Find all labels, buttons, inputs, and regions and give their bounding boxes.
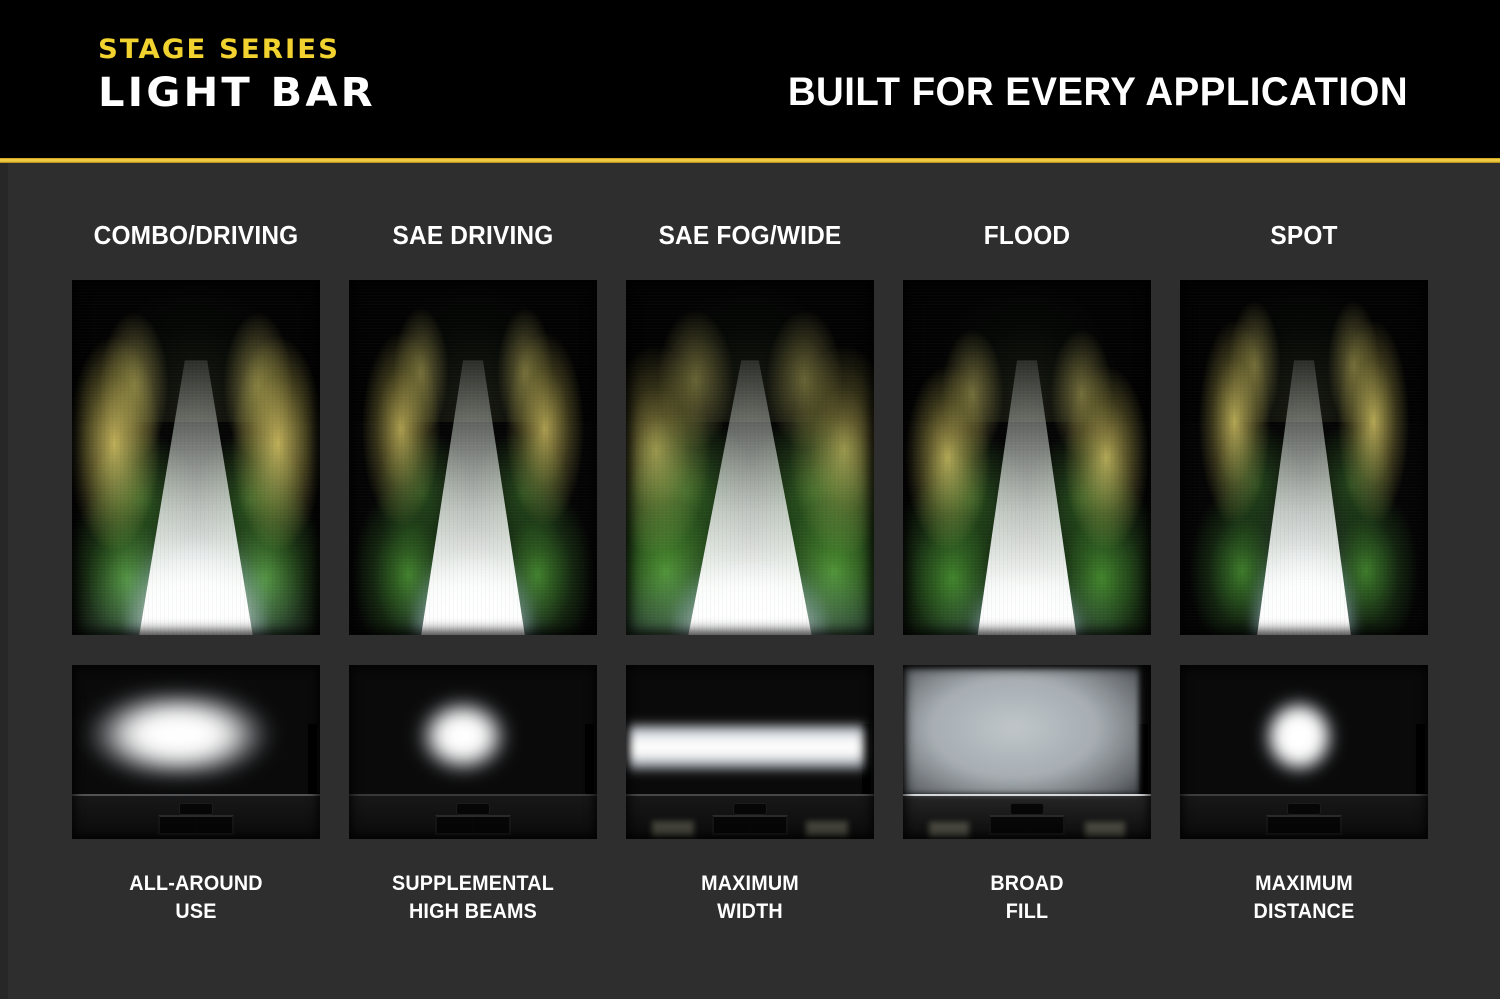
- column-title-flood: FLOOD: [910, 222, 1143, 280]
- road-photo-spot: [1180, 280, 1428, 635]
- column-title-sae-fog-wide: SAE FOG/WIDE: [633, 222, 866, 280]
- beam-pattern-sae-fog-wide: [626, 665, 874, 839]
- header-headline: BUILT FOR EVERY APPLICATION: [788, 72, 1408, 112]
- beam-wall-surface: [626, 665, 874, 794]
- road-beam-hotspot: [970, 578, 1084, 635]
- beam-floor-reflection-right: [806, 821, 848, 837]
- beam-floor-reflection-left: [929, 822, 969, 838]
- road-beam-hotspot: [1249, 550, 1358, 635]
- column-caption-combo-driving: ALL-AROUND USE: [79, 839, 312, 942]
- light-bar-housing: [179, 803, 213, 815]
- light-bar-housing: [456, 803, 490, 815]
- logo-stage-series: STAGE SERIES: [98, 36, 370, 63]
- light-bar-stand: [712, 815, 788, 835]
- beam-wall-baseline: [349, 794, 597, 796]
- column-caption-sae-driving: SUPPLEMENTAL HIGH BEAMS: [356, 839, 589, 942]
- beam-wall-pillar: [308, 724, 317, 794]
- beam-wall-baseline: [1180, 794, 1428, 796]
- light-bar-fixture: [430, 803, 516, 837]
- light-bar-housing: [1010, 803, 1044, 815]
- beam-wall-surface: [903, 665, 1151, 794]
- beam-wall-pillar: [1416, 724, 1425, 794]
- light-bar-stand: [1266, 815, 1342, 835]
- road-beam-hotspot: [673, 564, 827, 635]
- beam-wall-surface: [72, 665, 320, 794]
- light-bar-fixture: [153, 803, 239, 837]
- beam-floor-reflection-right: [1085, 822, 1125, 838]
- light-bar-fixture: [1261, 803, 1347, 837]
- beam-wall-pillar: [1139, 724, 1148, 794]
- column-title-combo-driving: COMBO/DRIVING: [79, 222, 312, 280]
- column-caption-spot: MAXIMUM DISTANCE: [1187, 839, 1420, 942]
- beam-pattern-combo-driving: [72, 665, 320, 839]
- light-bar-stand: [158, 815, 234, 835]
- beam-pattern-flood: [903, 665, 1151, 839]
- beam-wall-baseline: [626, 794, 874, 796]
- logo-light-bar: LIGHT BAR: [98, 73, 376, 113]
- column-caption-flood: BROAD FILL: [910, 839, 1143, 942]
- beam-pattern-spot: [1180, 665, 1428, 839]
- beam-pattern-sae-driving: [349, 665, 597, 839]
- beam-wall-surface: [1180, 665, 1428, 794]
- light-bar-housing: [733, 803, 767, 815]
- beam-wall-baseline: [903, 794, 1151, 796]
- column-caption-sae-fog-wide: MAXIMUM WIDTH: [633, 839, 866, 942]
- panel-left-edge: [0, 163, 8, 999]
- application-grid: COMBO/DRIVING SAE DRIVING SAE FOG/WIDE F…: [72, 222, 1428, 942]
- beam-wall-surface: [349, 665, 597, 794]
- road-beam-hotspot: [124, 543, 268, 635]
- header-bar: STAGE SERIES LIGHT BAR BUILT FOR EVERY A…: [0, 0, 1500, 158]
- beam-floor-reflection-left: [652, 821, 694, 837]
- column-title-sae-driving: SAE DRIVING: [356, 222, 589, 280]
- road-photo-flood: [903, 280, 1151, 635]
- column-title-spot: SPOT: [1187, 222, 1420, 280]
- beam-wall-baseline: [72, 794, 320, 796]
- beam-wall-pillar: [862, 724, 871, 794]
- road-photo-sae-fog-wide: [626, 280, 874, 635]
- beam-wall-pillar: [585, 724, 594, 794]
- road-photo-sae-driving: [349, 280, 597, 635]
- light-bar-stand: [989, 815, 1065, 835]
- road-beam-hotspot: [411, 557, 535, 635]
- light-bar-fixture: [984, 803, 1070, 837]
- light-bar-housing: [1287, 803, 1321, 815]
- light-bar-stand: [435, 815, 511, 835]
- light-bar-fixture: [707, 803, 793, 837]
- brand-logo: STAGE SERIES LIGHT BAR: [98, 36, 365, 113]
- road-photo-combo-driving: [72, 280, 320, 635]
